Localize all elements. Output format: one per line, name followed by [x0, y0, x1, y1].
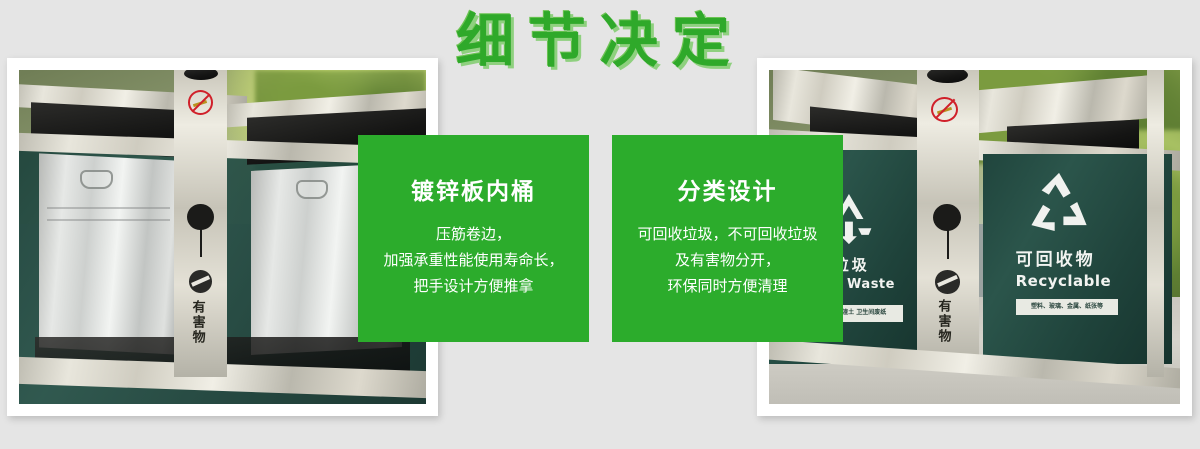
- bin-label-cn-recyclable: 可回收物: [1016, 245, 1096, 270]
- info-card-sorting-design: 分类设计 可回收垃圾，不可回收垃圾 及有害物分开， 环保同时方便清理: [612, 135, 843, 342]
- photo-right-hazard-slot-stem: [947, 229, 949, 259]
- promo-banner: 细节决定: [0, 0, 1200, 449]
- cigarette-glyph: [937, 107, 953, 115]
- photo-left-hazard-label: 有害物: [190, 300, 204, 345]
- info-card-line: 把手设计方便推拿: [358, 273, 589, 299]
- info-card-line: 环保同时方便清理: [612, 273, 843, 299]
- info-card-line: 及有害物分开，: [612, 247, 843, 273]
- info-card-title: 镀锌板内桶: [358, 177, 589, 207]
- bin-sublabel-recyclable: 塑料、玻璃、金属、纸张等: [1016, 299, 1119, 316]
- no-smoking-icon: [188, 90, 213, 115]
- photo-right-right-post: [1147, 70, 1163, 377]
- info-card-galvanized-bucket: 镀锌板内桶 压筋卷边， 加强承重性能使用寿命长， 把手设计方便推拿: [358, 135, 589, 342]
- bin-label-en-recyclable: Recyclable: [1016, 272, 1112, 290]
- photo-left-bucket-crease-1: [47, 207, 169, 209]
- photo-right-hazard-label: 有害物: [936, 299, 950, 344]
- photo-right-hazard-slot: [933, 204, 961, 231]
- info-card-line: 压筋卷边，: [358, 221, 589, 247]
- info-card-body: 可回收垃圾，不可回收垃圾 及有害物分开， 环保同时方便清理: [612, 221, 843, 299]
- info-card-line: 可回收垃圾，不可回收垃圾: [612, 221, 843, 247]
- recyclable-symbol-icon: [1020, 170, 1098, 237]
- cigarette-glyph: [193, 100, 208, 107]
- photo-left-hazard-slot-stem: [200, 227, 202, 257]
- hazardous-waste-icon: [189, 270, 212, 293]
- info-card-line: 加强承重性能使用寿命长，: [358, 247, 589, 273]
- photo-left-bucket-crease-2: [47, 219, 169, 221]
- hazardous-waste-icon: [935, 270, 960, 293]
- photo-left-bucket-handle-left: [80, 170, 112, 189]
- info-card-title: 分类设计: [612, 177, 843, 207]
- info-card-body: 压筋卷边， 加强承重性能使用寿命长， 把手设计方便推拿: [358, 221, 589, 299]
- no-smoking-icon: [931, 97, 958, 122]
- photo-left-bucket-handle-right: [296, 180, 328, 199]
